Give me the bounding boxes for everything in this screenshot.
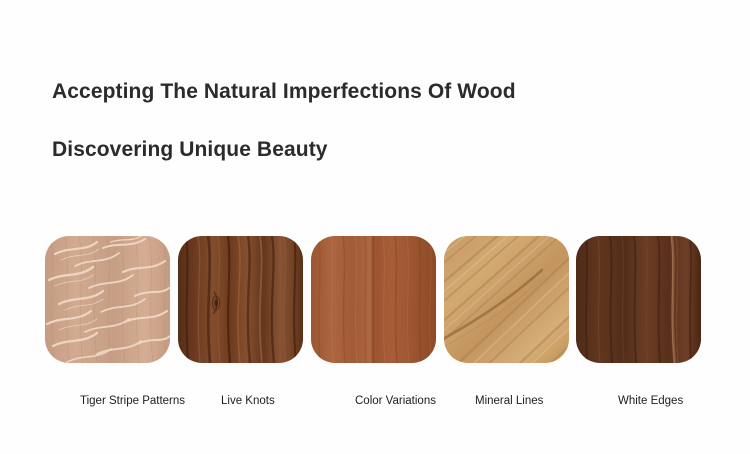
swatch-cell-mineral-lines[interactable] <box>444 236 569 363</box>
wood-swatch-strip <box>45 236 701 363</box>
white-edges-texture-icon <box>576 236 701 363</box>
mineral-lines-texture-icon <box>444 236 569 363</box>
swatch-label-white-edges: White Edges <box>618 394 683 408</box>
swatch-label-color-variations: Color Variations <box>355 394 436 408</box>
page-title-line-1: Accepting The Natural Imperfections Of W… <box>52 76 672 108</box>
wood-swatch-tiger-stripe-patterns[interactable] <box>45 236 170 363</box>
swatch-cell-live-knots[interactable] <box>178 236 303 363</box>
wood-swatch-white-edges[interactable] <box>576 236 701 363</box>
wood-swatch-color-variations[interactable] <box>311 236 436 363</box>
swatch-label-mineral-lines: Mineral Lines <box>475 394 543 408</box>
tiger-stripe-texture-icon <box>45 236 170 363</box>
swatch-label-live-knots: Live Knots <box>221 394 275 408</box>
wood-swatch-mineral-lines[interactable] <box>444 236 569 363</box>
swatch-cell-white-edges[interactable] <box>576 236 701 363</box>
live-knots-texture-icon <box>178 236 303 363</box>
wood-swatch-live-knots[interactable] <box>178 236 303 363</box>
heading-block: Accepting The Natural Imperfections Of W… <box>52 76 672 166</box>
swatch-cell-tiger-stripe-patterns[interactable] <box>45 236 170 363</box>
swatch-label-tiger-stripe-patterns: Tiger Stripe Patterns <box>80 394 185 408</box>
swatch-cell-color-variations[interactable] <box>311 236 436 363</box>
wood-characteristics-page: Accepting The Natural Imperfections Of W… <box>0 0 750 454</box>
color-variations-texture-icon <box>311 236 436 363</box>
page-title-line-2: Discovering Unique Beauty <box>52 134 672 166</box>
